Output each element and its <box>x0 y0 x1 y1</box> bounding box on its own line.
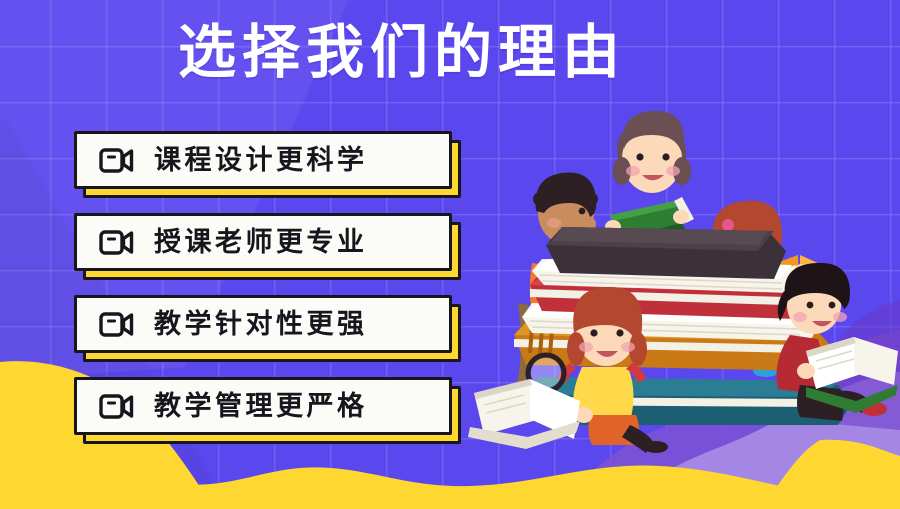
feature-card[interactable]: 教学针对性更强 <box>74 295 452 353</box>
page-title: 选择我们的理由 <box>178 18 698 88</box>
feature-list: 课程设计更科学 授课老师更专业 教学 <box>74 131 464 459</box>
poster-canvas: 选择我们的理由 课程设计更科学 授课老师更专业 <box>0 0 900 509</box>
feature-card[interactable]: 教学管理更严格 <box>74 377 452 435</box>
children-reading-illustration <box>470 95 900 455</box>
video-camera-icon <box>99 393 134 420</box>
card-body[interactable]: 授课老师更专业 <box>74 213 452 271</box>
feature-label: 授课老师更专业 <box>154 227 368 257</box>
card-body[interactable]: 教学管理更严格 <box>74 377 452 435</box>
video-camera-icon <box>99 147 134 174</box>
feature-card[interactable]: 课程设计更科学 <box>74 131 452 189</box>
video-camera-icon <box>99 311 134 338</box>
feature-label: 教学针对性更强 <box>154 309 368 339</box>
feature-card[interactable]: 授课老师更专业 <box>74 213 452 271</box>
card-body[interactable]: 教学针对性更强 <box>74 295 452 353</box>
video-camera-icon <box>99 229 134 256</box>
card-body[interactable]: 课程设计更科学 <box>74 131 452 189</box>
feature-label: 教学管理更严格 <box>154 391 368 421</box>
feature-label: 课程设计更科学 <box>154 145 368 175</box>
